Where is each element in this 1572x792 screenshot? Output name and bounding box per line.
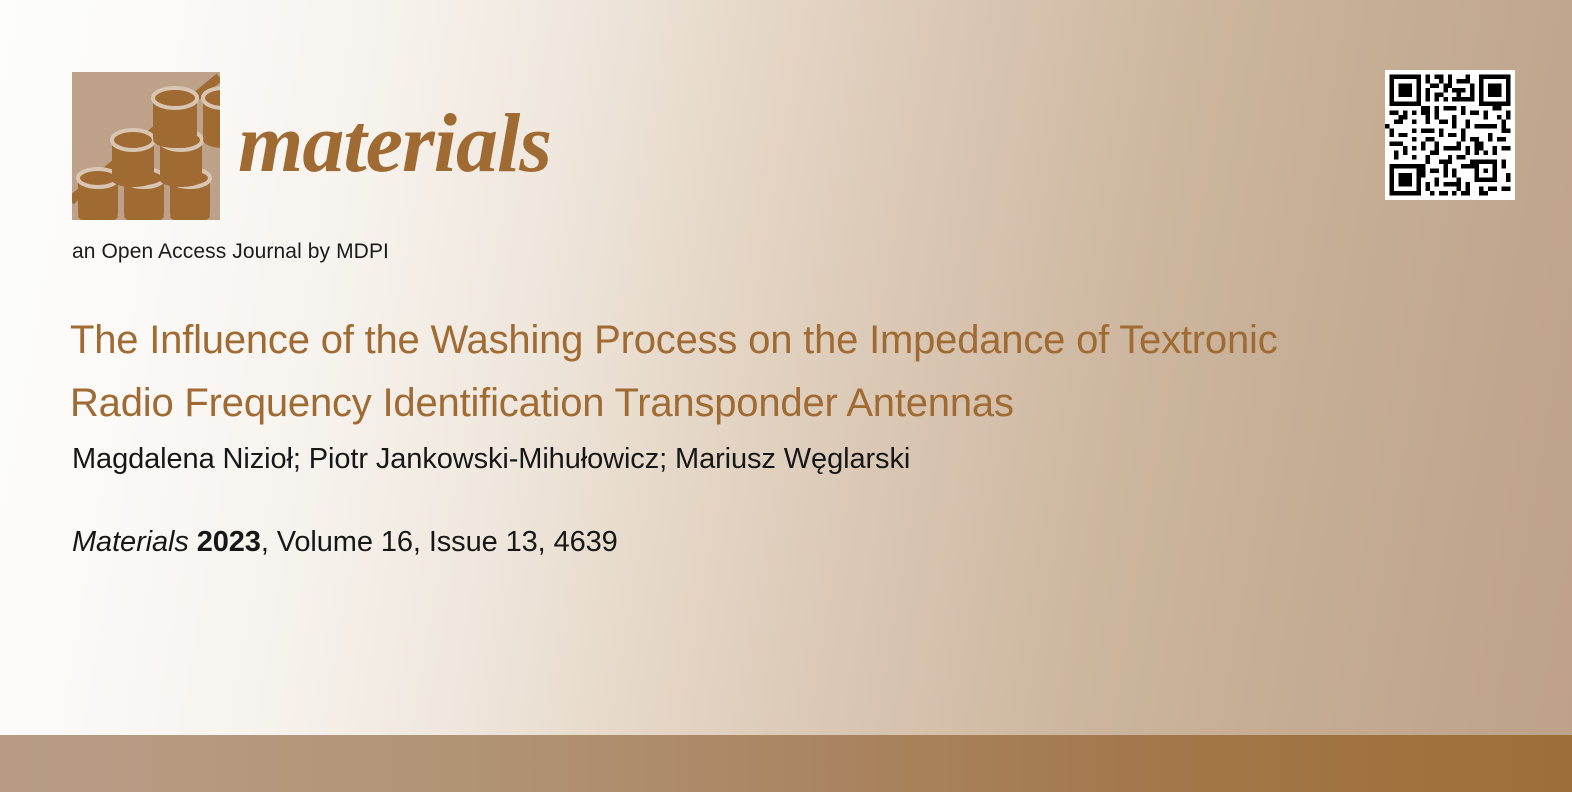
bottom-accent-bar [0,735,1572,792]
journal-cover-banner: materials [0,0,1572,792]
article-authors: Magdalena Nizioł; Piotr Jankowski-Mihuło… [72,443,910,476]
article-title-line-1: The Influence of the Washing Process on … [70,309,1470,372]
journal-branding: materials [72,72,551,220]
journal-subtitle: an Open Access Journal by MDPI [72,240,389,264]
article-title-line-2: Radio Frequency Identification Transpond… [70,372,1470,435]
citation-journal-name: Materials [72,526,189,558]
qr-code[interactable] [1385,70,1515,200]
materials-logo-icon [72,72,220,220]
journal-wordmark: materials [238,102,551,186]
article-title: The Influence of the Washing Process on … [70,309,1470,435]
citation-year: 2023 [197,526,261,558]
citation-details: , Volume 16, Issue 13, 4639 [261,526,618,558]
banner-content: materials [0,0,1572,735]
article-citation: Materials 2023, Volume 16, Issue 13, 463… [72,526,618,559]
